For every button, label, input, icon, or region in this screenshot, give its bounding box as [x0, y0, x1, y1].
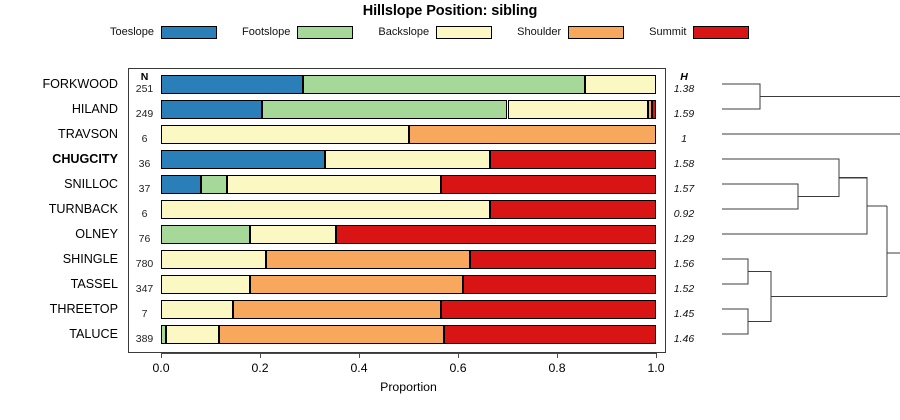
bar-segment-footslope[interactable]	[303, 75, 585, 94]
row-label-olney[interactable]: OLNEY	[75, 228, 118, 241]
bar-segment-toeslope[interactable]	[161, 175, 201, 194]
n-value-travson: 6	[128, 134, 161, 145]
bar-segment-toeslope[interactable]	[161, 75, 303, 94]
bar-row	[161, 250, 656, 269]
x-axis-tick	[359, 353, 360, 358]
h-value-olney: 1.29	[664, 234, 704, 245]
h-value-shingle: 1.56	[664, 259, 704, 270]
bar-row	[161, 300, 656, 319]
dendrogram-svg	[700, 68, 900, 353]
n-value-forkwood: 251	[128, 84, 161, 95]
n-value-tassel: 347	[128, 284, 161, 295]
legend-item-backslope[interactable]: Backslope	[378, 26, 492, 39]
row-label-shingle[interactable]: SHINGLE	[63, 253, 118, 266]
bar-segment-backslope[interactable]	[161, 125, 409, 144]
bar-row	[161, 150, 656, 169]
bar-segment-footslope[interactable]	[201, 175, 227, 194]
bar-segment-shoulder[interactable]	[266, 250, 470, 269]
bar-segment-summit[interactable]	[336, 225, 656, 244]
n-value-turnback: 6	[128, 209, 161, 220]
n-value-threetop: 7	[128, 309, 161, 320]
stacked-bar-plot	[161, 68, 656, 353]
x-axis-tick	[557, 353, 558, 358]
bar-segment-backslope[interactable]	[250, 225, 336, 244]
bar-segment-backslope[interactable]	[161, 300, 233, 319]
legend-swatch-backslope	[436, 26, 492, 39]
x-axis-tick	[161, 353, 162, 358]
row-label-travson[interactable]: TRAVSON	[58, 128, 118, 141]
x-axis-tick-label: 0.0	[141, 361, 181, 375]
row-label-axis: FORKWOODHILANDTRAVSONCHUGCITYSNILLOCTURN…	[0, 68, 124, 353]
legend-swatch-shoulder	[568, 26, 624, 39]
bar-segment-shoulder[interactable]	[250, 275, 463, 294]
legend-item-label: Footslope	[242, 26, 290, 38]
x-axis-tick-label: 0.2	[240, 361, 280, 375]
bar-segment-shoulder[interactable]	[409, 125, 657, 144]
bar-segment-backslope[interactable]	[166, 325, 219, 344]
bar-row	[161, 175, 656, 194]
bar-row	[161, 225, 656, 244]
h-value-turnback: 0.92	[664, 209, 704, 220]
h-column-header: H	[664, 71, 704, 83]
x-axis-tick-label: 0.8	[537, 361, 577, 375]
dendrogram	[700, 68, 900, 353]
bar-segment-summit[interactable]	[490, 200, 656, 219]
row-label-forkwood[interactable]: FORKWOOD	[42, 78, 118, 91]
row-label-turnback[interactable]: TURNBACK	[49, 203, 118, 216]
bar-segment-footslope[interactable]	[161, 225, 250, 244]
h-value-travson: 1	[664, 134, 704, 145]
bar-segment-summit[interactable]	[652, 100, 656, 119]
bar-segment-summit[interactable]	[470, 250, 656, 269]
bar-segment-summit[interactable]	[441, 300, 656, 319]
legend-swatch-summit	[693, 26, 749, 39]
row-label-threetop[interactable]: THREETOP	[50, 303, 118, 316]
bar-segment-toeslope[interactable]	[161, 100, 262, 119]
h-value-chugcity: 1.58	[664, 159, 704, 170]
bar-segment-backslope[interactable]	[325, 150, 490, 169]
h-value-taluce: 1.46	[664, 334, 704, 345]
x-axis-tick-label: 0.4	[339, 361, 379, 375]
row-label-taluce[interactable]: TALUCE	[69, 328, 118, 341]
n-value-olney: 76	[128, 234, 161, 245]
bar-row	[161, 275, 656, 294]
legend-item-toeslope[interactable]: Toeslope	[110, 26, 217, 39]
page-title: Hillslope Position: sibling	[0, 3, 900, 19]
x-axis-tick	[656, 353, 657, 358]
bar-segment-backslope[interactable]	[161, 200, 490, 219]
bar-segment-summit[interactable]	[490, 150, 656, 169]
bar-segment-backslope[interactable]	[161, 275, 250, 294]
bar-row	[161, 325, 656, 344]
h-value-snilloc: 1.57	[664, 184, 704, 195]
x-axis-line	[161, 353, 656, 354]
legend-item-footslope[interactable]: Footslope	[242, 26, 353, 39]
legend-item-shoulder[interactable]: Shoulder	[517, 26, 624, 39]
n-column: N 251249636376767803477389	[128, 68, 161, 353]
x-axis-tick-label: 0.6	[438, 361, 478, 375]
h-value-forkwood: 1.38	[664, 84, 704, 95]
legend-item-label: Summit	[649, 26, 686, 38]
n-value-taluce: 389	[128, 334, 161, 345]
legend-swatch-footslope	[297, 26, 353, 39]
row-label-snilloc[interactable]: SNILLOC	[64, 178, 118, 191]
x-axis-tick-label: 1.0	[636, 361, 676, 375]
bar-segment-summit[interactable]	[463, 275, 656, 294]
h-value-threetop: 1.45	[664, 309, 704, 320]
h-value-tassel: 1.52	[664, 284, 704, 295]
bar-segment-summit[interactable]	[444, 325, 656, 344]
bar-row	[161, 200, 656, 219]
bar-segment-backslope[interactable]	[227, 175, 441, 194]
h-value-hiland: 1.59	[664, 109, 704, 120]
n-value-shingle: 780	[128, 259, 161, 270]
bar-segment-backslope[interactable]	[585, 75, 656, 94]
bar-segment-summit[interactable]	[441, 175, 656, 194]
legend-item-label: Shoulder	[517, 26, 561, 38]
bar-segment-shoulder[interactable]	[233, 300, 441, 319]
bar-segment-backslope[interactable]	[508, 100, 649, 119]
x-axis-title: Proportion	[161, 380, 656, 394]
legend-item-label: Backslope	[378, 26, 429, 38]
legend: ToeslopeFootslopeBackslopeShoulderSummit	[110, 23, 790, 41]
bar-row	[161, 125, 656, 144]
row-label-hiland[interactable]: HILAND	[72, 103, 118, 116]
row-label-chugcity[interactable]: CHUGCITY	[52, 153, 118, 166]
n-value-hiland: 249	[128, 109, 161, 120]
x-axis-tick	[458, 353, 459, 358]
bar-row	[161, 100, 656, 119]
row-label-tassel[interactable]: TASSEL	[71, 278, 118, 291]
n-column-header: N	[128, 71, 161, 83]
n-value-snilloc: 37	[128, 184, 161, 195]
legend-swatch-toeslope	[161, 26, 217, 39]
bar-row	[161, 75, 656, 94]
n-value-chugcity: 36	[128, 159, 161, 170]
x-axis-tick	[260, 353, 261, 358]
bar-segment-toeslope[interactable]	[161, 150, 325, 169]
legend-item-label: Toeslope	[110, 26, 154, 38]
bar-segment-shoulder[interactable]	[219, 325, 444, 344]
bar-segment-footslope[interactable]	[262, 100, 508, 119]
legend-item-summit[interactable]: Summit	[649, 26, 749, 39]
bar-segment-backslope[interactable]	[161, 250, 266, 269]
